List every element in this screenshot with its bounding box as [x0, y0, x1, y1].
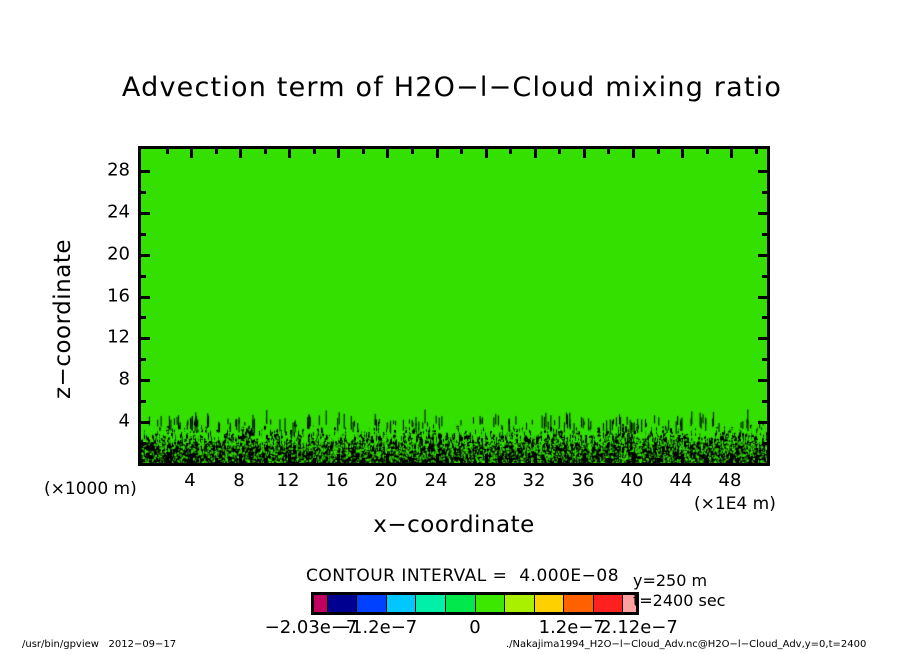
x-tick-top — [288, 149, 291, 158]
x-tick-label-24: 24 — [425, 470, 448, 491]
y-tick-right — [758, 296, 767, 299]
x-tick-bottom — [607, 458, 610, 463]
time-annotation: t=2400 sec — [633, 591, 725, 610]
colorbar-segment-6 — [476, 595, 506, 612]
x-tick-top — [337, 149, 340, 158]
x-tick-bottom — [755, 458, 758, 463]
x-tick-bottom — [558, 458, 561, 463]
y-tick-left — [141, 170, 150, 173]
y-tick-right — [758, 254, 767, 257]
y-tick-left — [141, 379, 150, 382]
x-tick-top — [190, 149, 193, 158]
x-tick-bottom — [485, 454, 488, 463]
x-tick-top — [558, 149, 561, 154]
x-tick-top — [239, 149, 242, 158]
y-slice-annotation: y=250 m — [633, 571, 707, 590]
contour-field-canvas — [141, 149, 767, 463]
y-tick-left — [141, 296, 150, 299]
x-tick-label-16: 16 — [326, 470, 349, 491]
x-tick-bottom — [436, 454, 439, 463]
y-tick-right — [758, 170, 767, 173]
x-tick-top — [411, 149, 414, 154]
x-tick-label-28: 28 — [474, 470, 497, 491]
x-tick-label-4: 4 — [184, 470, 195, 491]
x-tick-bottom — [460, 458, 463, 463]
y-tick-left — [141, 337, 150, 340]
y-tick-right — [762, 442, 767, 445]
x-tick-label-36: 36 — [572, 470, 595, 491]
x-tick-bottom — [362, 458, 365, 463]
x-tick-top — [681, 149, 684, 158]
plot-area — [138, 146, 770, 466]
x-tick-top — [583, 149, 586, 158]
x-tick-top — [362, 149, 365, 154]
y-tick-left — [141, 442, 146, 445]
colorbar-tick-label-4: 2.12e−7 — [600, 617, 678, 638]
x-tick-bottom — [386, 454, 389, 463]
x-tick-top — [706, 149, 709, 154]
x-tick-top — [264, 149, 267, 154]
contour-interval-label: CONTOUR INTERVAL = 4.000E−08 — [306, 566, 619, 586]
x-tick-bottom — [411, 458, 414, 463]
colorbar-segment-3 — [387, 595, 417, 612]
x-tick-label-32: 32 — [523, 470, 546, 491]
x-tick-bottom — [583, 454, 586, 463]
colorbar-segment-5 — [446, 595, 476, 612]
x-tick-top — [436, 149, 439, 158]
y-tick-left — [141, 254, 150, 257]
y-tick-right — [762, 275, 767, 278]
x-tick-bottom — [239, 454, 242, 463]
x-tick-bottom — [215, 458, 218, 463]
colorbar-tick-label-3: 1.2e−7 — [539, 617, 605, 638]
x-tick-top — [509, 149, 512, 154]
y-tick-right — [762, 358, 767, 361]
y-tick-left — [141, 316, 146, 319]
x-tick-top — [534, 149, 537, 158]
y-tick-label-24: 24 — [70, 202, 130, 223]
x-tick-bottom — [632, 454, 635, 463]
colorbar-segment-10 — [594, 595, 624, 612]
y-axis-title: z−coordinate — [50, 209, 76, 429]
colorbar-tick-label-2: 0 — [469, 617, 480, 638]
y-tick-label-8: 8 — [70, 369, 130, 390]
x-tick-bottom — [288, 454, 291, 463]
x-tick-top — [730, 149, 733, 158]
colorbar-segment-0 — [314, 595, 328, 612]
y-tick-right — [758, 212, 767, 215]
page-title: Advection term of H2O−l−Cloud mixing rat… — [0, 72, 904, 103]
x-tick-top — [657, 149, 660, 154]
y-tick-left — [141, 233, 146, 236]
x-tick-bottom — [657, 458, 660, 463]
x-tick-top — [607, 149, 610, 154]
y-axis-unit-label: (×1000 m) — [44, 479, 137, 499]
x-tick-label-12: 12 — [277, 470, 300, 491]
colorbar-segment-9 — [564, 595, 594, 612]
colorbar-segment-7 — [505, 595, 535, 612]
y-tick-label-12: 12 — [70, 327, 130, 348]
x-tick-top — [755, 149, 758, 154]
x-tick-bottom — [166, 458, 169, 463]
x-tick-top — [215, 149, 218, 154]
x-tick-label-48: 48 — [719, 470, 742, 491]
y-tick-left — [141, 212, 150, 215]
x-tick-top — [632, 149, 635, 158]
x-axis-title: x−coordinate — [138, 512, 770, 538]
x-tick-bottom — [681, 454, 684, 463]
x-tick-bottom — [730, 454, 733, 463]
colorbar-segment-1 — [328, 595, 358, 612]
colorbar-segment-8 — [535, 595, 565, 612]
y-tick-left — [141, 421, 150, 424]
x-tick-bottom — [534, 454, 537, 463]
x-axis-unit-label: (×1E4 m) — [694, 494, 776, 514]
x-tick-top — [166, 149, 169, 154]
y-tick-label-16: 16 — [70, 286, 130, 307]
y-tick-right — [758, 421, 767, 424]
colorbar-segment-4 — [416, 595, 446, 612]
x-tick-bottom — [190, 454, 193, 463]
x-tick-bottom — [706, 458, 709, 463]
y-tick-right — [762, 233, 767, 236]
y-tick-left — [141, 400, 146, 403]
colorbar — [311, 592, 639, 615]
y-tick-right — [762, 400, 767, 403]
x-tick-label-8: 8 — [233, 470, 244, 491]
colorbar-segment-2 — [357, 595, 387, 612]
y-tick-right — [762, 191, 767, 194]
x-tick-label-44: 44 — [670, 470, 693, 491]
y-tick-label-20: 20 — [70, 244, 130, 265]
x-tick-bottom — [337, 454, 340, 463]
y-tick-right — [758, 379, 767, 382]
x-tick-label-20: 20 — [375, 470, 398, 491]
slice-annotations: y=250 m t=2400 sec — [633, 571, 725, 611]
y-tick-left — [141, 275, 146, 278]
footer-source-label: ./Nakajima1994_H2O−l−Cloud_Adv.nc@H2O−l−… — [506, 639, 866, 650]
y-tick-right — [762, 316, 767, 319]
y-tick-left — [141, 191, 146, 194]
y-tick-right — [758, 337, 767, 340]
y-tick-label-4: 4 — [70, 411, 130, 432]
x-tick-top — [386, 149, 389, 158]
x-tick-top — [460, 149, 463, 154]
x-tick-bottom — [509, 458, 512, 463]
x-tick-top — [485, 149, 488, 158]
colorbar-tick-label-1: −1.2e−7 — [336, 617, 417, 638]
x-tick-label-40: 40 — [621, 470, 644, 491]
x-tick-bottom — [264, 458, 267, 463]
y-tick-label-28: 28 — [70, 160, 130, 181]
x-tick-bottom — [313, 458, 316, 463]
y-tick-left — [141, 358, 146, 361]
x-tick-top — [313, 149, 316, 154]
footer-command-label: /usr/bin/gpview 2012−09−17 — [22, 639, 176, 650]
